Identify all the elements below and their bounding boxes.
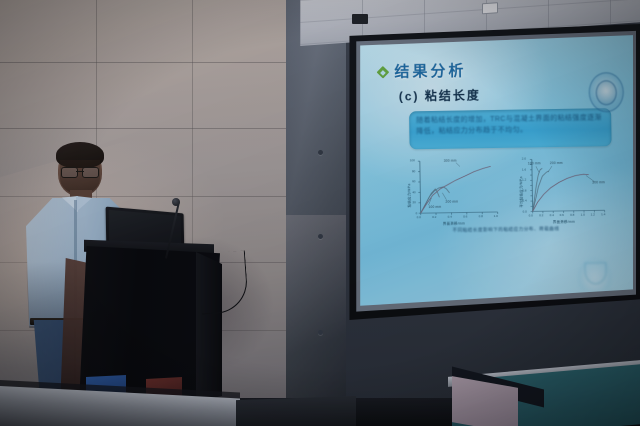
- chart-right-ytick: 0.8: [522, 188, 526, 192]
- screen-mount-bracket: [352, 14, 368, 24]
- chart-left-xtick: 0.4: [448, 215, 452, 219]
- chart-right-ytick: 0.4: [522, 199, 526, 203]
- chart-left-xlabel: 界面滑移/mm: [443, 220, 465, 225]
- glasses-icon: [61, 167, 99, 176]
- chart-left-ytick: 60: [412, 179, 415, 183]
- chart-right-xtick: 0.2: [539, 213, 543, 217]
- chart-left-ytick: 100: [410, 158, 415, 162]
- chart-right-xtick: 0.8: [570, 213, 574, 217]
- chart-right-xtick: 0.6: [560, 213, 564, 217]
- chart-right-ytick: 1.6: [522, 167, 526, 171]
- chart-right-ytick: 0.0: [523, 209, 527, 213]
- slide-callout-text: 随着粘结长度的增加，TRC与混凝土界面的粘结强度逐渐降低，粘结应力分布趋于不均匀…: [416, 112, 606, 137]
- projection-screen: 结果分析 (c) 粘结长度 随着粘结长度的增加，TRC与混凝土界面的粘结强度逐渐…: [358, 34, 633, 308]
- ceiling-light-fixture: [482, 2, 498, 14]
- chart-right-xtick: 1.4: [601, 212, 605, 216]
- chart-left-ytick: 40: [412, 190, 415, 194]
- university-seal-icon: [588, 72, 624, 113]
- chart-left-xtick: 0.6: [463, 214, 467, 218]
- chart-right-xlabel: 界面滑移/mm: [553, 219, 575, 224]
- chart-left-annotation: 300 mm: [444, 159, 457, 163]
- slide-subtitle: (c) 粘结长度: [399, 86, 481, 104]
- chart-right-xtick: 1.2: [591, 212, 595, 216]
- chart-right-annotation: 300 mm: [592, 180, 605, 184]
- slide-callout-box: 随着粘结长度的增加，TRC与混凝土界面的粘结强度逐渐降低，粘结应力分布趋于不均匀…: [409, 108, 612, 149]
- vase-watermark-icon: [576, 256, 613, 291]
- chart-right-xtick: 1.0: [581, 213, 585, 217]
- concrete-column: [286, 0, 348, 400]
- chart-left-ytick: 20: [412, 200, 415, 204]
- chart-left: 粘结应力/MPa 界面滑移/mm 100 80 60 40 20 0 0.0 0…: [398, 154, 503, 232]
- chart-left-ytick: 0: [416, 211, 418, 215]
- chart-right-ytick: 2.0: [522, 157, 526, 161]
- chart-left-xtick: 0.0: [417, 215, 421, 219]
- chart-left-annotation: 200 mm: [445, 200, 458, 204]
- chart-right-xtick: 0.0: [529, 213, 533, 217]
- chart-left-ytick: 80: [412, 169, 415, 173]
- chart-left-annotation: 100 mm: [429, 205, 442, 209]
- lecture-hall-photo: 结果分析 (c) 粘结长度 随着粘结长度的增加，TRC与混凝土界面的粘结强度逐渐…: [0, 0, 640, 426]
- chart-left-ylabel: 粘结应力/MPa: [406, 183, 411, 207]
- microphone-icon[interactable]: [172, 198, 180, 206]
- chart-right-ytick: 1.2: [522, 178, 526, 182]
- chart-right-annotation: 200 mm: [550, 161, 563, 165]
- front-desk-left-dark: [236, 396, 356, 426]
- chart-left-xtick: 0.2: [432, 215, 436, 219]
- slide-title: 结果分析: [394, 59, 466, 81]
- chart-right-annotation: 100 mm: [528, 161, 541, 165]
- chart-left-xtick: 0.8: [479, 214, 483, 218]
- chart-right-xtick: 0.4: [550, 213, 554, 217]
- diamond-bullet-icon: [377, 66, 390, 79]
- chart-right: 平均粘结应力/MPa 界面滑移/mm 2.0 1.6 1.2 0.8 0.4 0…: [508, 152, 609, 230]
- presentation-slide: 结果分析 (c) 粘结长度 随着粘结长度的增加，TRC与混凝土界面的粘结强度逐渐…: [358, 34, 633, 308]
- chart-left-xtick: 1.0: [494, 214, 498, 218]
